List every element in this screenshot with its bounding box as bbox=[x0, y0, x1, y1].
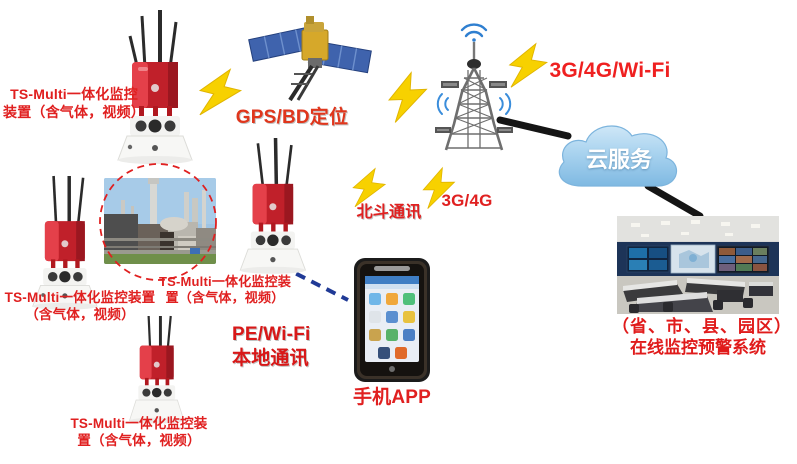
device-antennas bbox=[258, 138, 292, 189]
link-label-beidou: 北斗通讯 bbox=[344, 203, 434, 223]
device-antennas bbox=[130, 10, 176, 70]
device-red-body bbox=[45, 221, 85, 261]
satellite bbox=[246, 8, 374, 102]
communication-tower bbox=[424, 18, 524, 158]
device-top-left-label: TS-Multi一体化监控 装置（含气体，视频） bbox=[0, 86, 148, 121]
satellite-antenna-boom bbox=[290, 66, 318, 100]
device-center[interactable] bbox=[226, 138, 318, 272]
device-white-base bbox=[240, 231, 305, 273]
link-label-3g4g: 3G/4G bbox=[432, 190, 502, 211]
industrial-plant-photo bbox=[104, 178, 216, 264]
tower-lattice bbox=[446, 68, 502, 150]
device-bottom-left[interactable] bbox=[110, 316, 202, 428]
link-label-pe-wifi: PE/Wi-Fi 本地通讯 bbox=[232, 323, 340, 371]
handheld-terminal-caption: 手机APP bbox=[340, 386, 444, 410]
control-room-caption-line2: 在线监控预警系统 bbox=[612, 337, 784, 359]
device-bottom-left-label: TS-Multi一体化监控装 置（含气体，视频） bbox=[58, 416, 220, 450]
link-label-3g4g-wifi: 3G/4G/Wi-Fi bbox=[540, 58, 680, 84]
cloud-service[interactable]: 云服务 bbox=[546, 116, 692, 198]
device-red-body bbox=[253, 184, 294, 225]
tower-signal-right-icon bbox=[500, 94, 510, 114]
tower-wifi-top-icon bbox=[462, 25, 486, 42]
satellite-body bbox=[302, 16, 328, 68]
device-red-body bbox=[140, 345, 174, 379]
control-room-photo bbox=[617, 216, 779, 314]
device-antennas bbox=[54, 176, 84, 226]
link-label-gps-bd: GPS/BD定位 bbox=[222, 106, 362, 130]
handheld-terminal[interactable] bbox=[348, 256, 436, 384]
video-wall bbox=[627, 245, 769, 273]
diagram-canvas: TS-Multi一体化监控 装置（含气体，视频） bbox=[0, 0, 797, 464]
control-room-caption-line1: （省、市、县、园区） bbox=[612, 316, 784, 338]
cloud-service-label: 云服务 bbox=[546, 142, 692, 174]
device-white-base bbox=[118, 116, 192, 164]
tower-signal-left-icon bbox=[438, 94, 448, 114]
device-antennas bbox=[149, 316, 171, 348]
plant-photo-circle bbox=[88, 166, 228, 278]
